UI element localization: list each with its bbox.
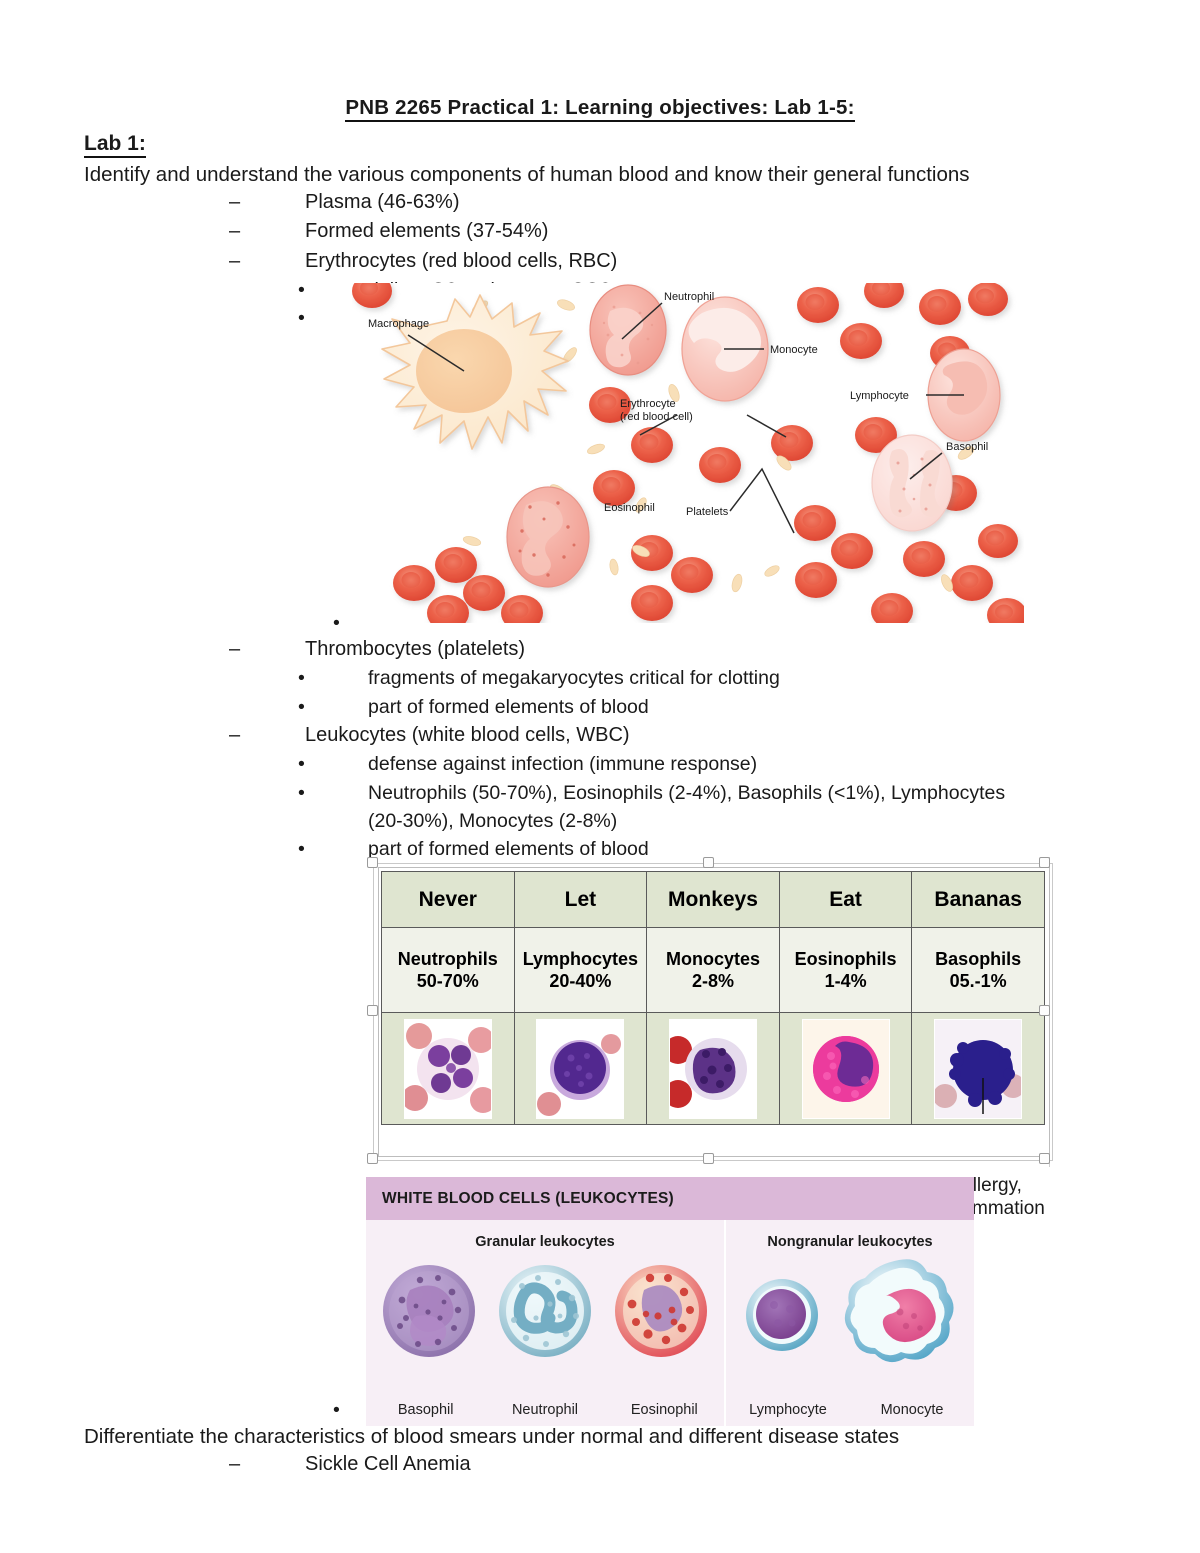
granular-leukocytes-group: Granular leukocytes: [366, 1220, 724, 1426]
cell-name: Neutrophils: [383, 948, 513, 971]
list-item-percentages: •Neutrophils (50-70%), Eosinophils (2-4%…: [0, 779, 1200, 807]
list-item-erythrocytes: –Erythrocytes (red blood cells, RBC): [0, 247, 1200, 276]
dash-marker-icon: –: [267, 217, 305, 246]
eosinophil-cell: [507, 487, 589, 587]
table-row: Neutrophils 50-70% Lymphocytes 20-40% Mo…: [382, 928, 1045, 1013]
cell-percent: 1-4%: [781, 970, 911, 993]
bullet-marker-icon: •: [333, 1399, 340, 1421]
nongranular-cell-illustrations: [726, 1250, 974, 1372]
list-item-label: Formed elements (37-54%): [305, 220, 548, 242]
wbc-panel-title-bar: WHITE BLOOD CELLS (LEUKOCYTES): [366, 1177, 974, 1220]
list-item-label: Erythrocytes (red blood cells, RBC): [305, 250, 617, 272]
table-cell-celltype: Lymphocytes 20-40%: [514, 928, 647, 1013]
mnemonic-table: Never Let Monkeys Eat Bananas Neutrophil…: [381, 871, 1045, 1125]
table-cell-celltype: Basophils 05.-1%: [912, 928, 1045, 1013]
cell-percent: 20-40%: [516, 970, 646, 993]
document-body-bottom: • Differentiate the characteristics of b…: [0, 1400, 1200, 1479]
cell-name: Basophils: [913, 948, 1043, 971]
dash-marker-icon: –: [267, 1450, 305, 1479]
neutrophil-cell: [590, 285, 666, 375]
dash-marker-icon: –: [267, 247, 305, 276]
neutrophil-micrograph: [404, 1019, 492, 1119]
list-item-label: defense against infection (immune respon…: [368, 753, 757, 775]
table-cell-micrograph: [382, 1013, 515, 1125]
table-header-cell: Let: [514, 872, 647, 928]
resize-handle-top-left[interactable]: [367, 857, 378, 868]
label-macrophage: Macrophage: [368, 318, 429, 330]
table-cell-celltype: Eosinophils 1-4%: [779, 928, 912, 1013]
dash-marker-icon: –: [267, 188, 305, 217]
table-cell-micrograph: [514, 1013, 647, 1125]
resize-handle-bottom-right[interactable]: [1039, 1153, 1050, 1164]
list-item-plasma: –Plasma (46-63%): [0, 188, 1200, 217]
list-item-label: Leukocytes (white blood cells, WBC): [305, 724, 630, 746]
list-item-label: Sickle Cell Anemia: [305, 1453, 471, 1475]
list-item-sickle-cell-anemia: –Sickle Cell Anemia: [0, 1450, 1200, 1479]
nongranular-leukocytes-group: Nongranular leukocytes: [724, 1220, 974, 1426]
mnemonic-table-object[interactable]: Never Let Monkeys Eat Bananas Neutrophil…: [365, 857, 1055, 1167]
lymphocyte-micrograph: [536, 1019, 624, 1119]
table-cell-celltype: Monocytes 2-8%: [647, 928, 780, 1013]
neutrophil-illustration: [492, 1256, 598, 1366]
granular-subtitle: Granular leukocytes: [366, 1220, 724, 1250]
table-row-micrographs: [382, 1013, 1045, 1125]
dash-marker-icon: –: [267, 721, 305, 750]
bullet-marker-icon: •: [333, 612, 340, 634]
monocyte-illustration: [834, 1252, 964, 1372]
resize-handle-middle-left[interactable]: [367, 1005, 378, 1016]
list-item-percentages-cont: (20-30%), Monocytes (2-8%): [0, 807, 1200, 835]
basophil-illustration: [376, 1256, 482, 1366]
list-item-empty: •: [0, 613, 1200, 635]
cell-name: Lymphocytes: [516, 948, 646, 971]
wbc-panel-body: Granular leukocytes: [366, 1220, 974, 1426]
bullet-marker-icon: •: [333, 693, 368, 721]
resize-handle-top-right[interactable]: [1039, 857, 1050, 868]
list-item-leukocytes: –Leukocytes (white blood cells, WBC): [0, 721, 1200, 750]
resize-handle-bottom-center[interactable]: [703, 1153, 714, 1164]
list-item-formed-elements: –Formed elements (37-54%): [0, 217, 1200, 246]
lab-heading-text: Lab 1:: [84, 132, 146, 158]
list-item-label: Plasma (46-63%): [305, 191, 460, 213]
blood-smear-figure: Macrophage Neutrophil Monocyte Lymphocyt…: [352, 283, 1024, 623]
resize-handle-top-center[interactable]: [703, 857, 714, 868]
list-item-label: fragments of megakaryocytes critical for…: [368, 667, 780, 689]
label-neutrophil: Neutrophil: [664, 291, 714, 303]
cell-name: Monocytes: [648, 948, 778, 971]
objective-1: Identify and understand the various comp…: [0, 156, 1200, 188]
resize-handle-bottom-left[interactable]: [367, 1153, 378, 1164]
table-header-cell: Bananas: [912, 872, 1045, 928]
cell-name: Eosinophils: [781, 948, 911, 971]
cell-percent: 2-8%: [648, 970, 778, 993]
bullet-marker-icon: •: [333, 750, 368, 778]
bullet-marker-icon: •: [333, 779, 368, 807]
list-item-defense: •defense against infection (immune respo…: [0, 750, 1200, 778]
table-header-row: Never Let Monkeys Eat Bananas: [382, 872, 1045, 928]
label-lymphocyte: Lymphocyte: [850, 390, 909, 402]
label-eosinophil: Eosinophil: [604, 502, 655, 514]
list-item-empty-2: •: [0, 1400, 1200, 1422]
basophil-cell: [872, 435, 952, 531]
cell-percent: 05.-1%: [913, 970, 1043, 993]
table-cell-micrograph: [647, 1013, 780, 1125]
list-item-thrombocytes: –Thrombocytes (platelets): [0, 635, 1200, 664]
granular-cell-illustrations: [366, 1250, 724, 1366]
eosinophil-illustration: [608, 1256, 714, 1366]
eosinophil-micrograph: [802, 1019, 890, 1119]
table-cell-celltype: Neutrophils 50-70%: [382, 928, 515, 1013]
list-item-label: Thrombocytes (platelets): [305, 638, 525, 660]
cell-percent: 50-70%: [383, 970, 513, 993]
label-platelets: Platelets: [686, 506, 729, 518]
list-item-part-of-formed-2: •part of formed elements of blood: [0, 693, 1200, 721]
wbc-panel-title: WHITE BLOOD CELLS (LEUKOCYTES): [382, 1190, 674, 1208]
bullet-marker-icon: •: [333, 835, 368, 863]
label-basophil: Basophil: [946, 441, 988, 453]
resize-handle-middle-right[interactable]: [1039, 1005, 1050, 1016]
label-monocyte: Monocyte: [770, 344, 818, 356]
list-item-label: part of formed elements of blood: [368, 696, 649, 718]
table-header-cell: Eat: [779, 872, 912, 928]
label-erythrocyte: Erythrocyte: [620, 398, 676, 410]
lymphocyte-illustration: [736, 1257, 828, 1367]
table-cell-micrograph: [912, 1013, 1045, 1125]
page-title: PNB 2265 Practical 1: Learning objective…: [0, 0, 1200, 120]
nongranular-subtitle: Nongranular leukocytes: [726, 1220, 974, 1250]
document-body-middle: • –Thrombocytes (platelets) •fragments o…: [0, 613, 1200, 863]
bullet-marker-icon: •: [333, 664, 368, 692]
objective-2: Differentiate the characteristics of blo…: [0, 1422, 1200, 1450]
lab-heading: Lab 1:: [0, 120, 1200, 156]
wbc-leukocyte-panel: WHITE BLOOD CELLS (LEUKOCYTES) Granular …: [366, 1177, 974, 1426]
table-cell-micrograph: [779, 1013, 912, 1125]
label-erythrocyte-sub: (red blood cell): [620, 411, 693, 423]
table-header-cell: Never: [382, 872, 515, 928]
list-item-label: Neutrophils (50-70%), Eosinophils (2-4%)…: [368, 782, 1005, 804]
dash-marker-icon: –: [267, 635, 305, 664]
basophil-micrograph: [934, 1019, 1022, 1119]
list-item-fragments: •fragments of megakaryocytes critical fo…: [0, 664, 1200, 692]
page-title-text: PNB 2265 Practical 1: Learning objective…: [345, 96, 854, 122]
table-header-cell: Monkeys: [647, 872, 780, 928]
monocyte-micrograph: [669, 1019, 757, 1119]
